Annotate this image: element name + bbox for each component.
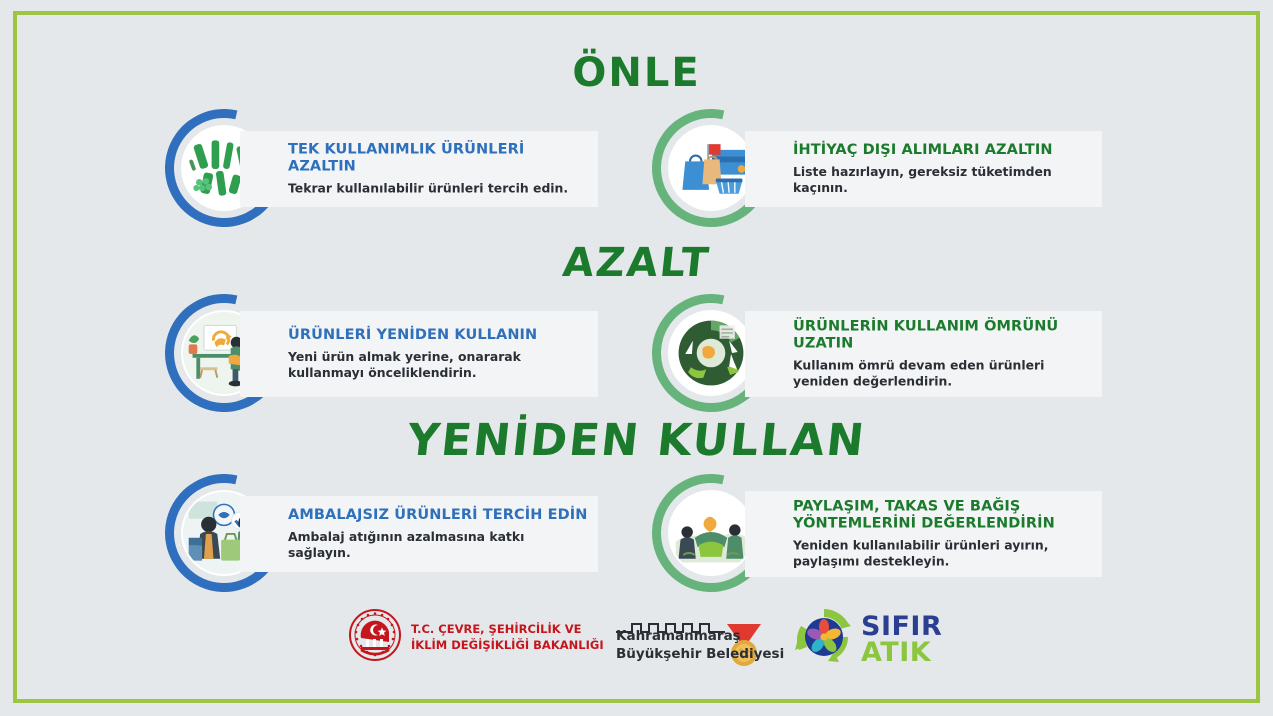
card-tek-kullanimlik[interactable]: TEK KULLANIMLIK ÜRÜNLERİ AZALTIN Tekrar … [240,131,598,207]
card-ihtiyac-disi[interactable]: İHTİYAÇ DIŞI ALIMLARI AZALTIN Liste hazı… [745,131,1102,207]
card-paylasim-takas[interactable]: PAYLAŞIM, TAKAS VE BAĞIŞ YÖNTEMLERİNİ DE… [745,491,1102,577]
card-kullanim-omru[interactable]: ÜRÜNLERİN KULLANIM ÖMRÜNÜ UZATIN Kullanı… [745,311,1102,397]
section-row-azalt: ÜRÜNLERİ YENİDEN KULLANIN Yeni ürün alma… [0,288,1273,418]
card-title: TEK KULLANIMLIK ÜRÜNLERİ AZALTIN [288,141,588,175]
card-title: ÜRÜNLERİN KULLANIM ÖMRÜNÜ UZATIN [793,319,1092,353]
section-row-yeniden-kullan: AMBALAJSIZ ÜRÜNLERİ TERCİH EDİN Ambalaj … [0,468,1273,598]
municipality-label: Kahramanmaraş Büyükşehir Belediyesi [616,628,784,663]
card-description: Yeni ürün almak yerine, onararak kullanm… [288,349,588,381]
zero-waste-line-2: ATIK [861,640,942,666]
card-text: İHTİYAÇ DIŞI ALIMLARI AZALTIN Liste hazı… [793,142,1092,196]
card-title: PAYLAŞIM, TAKAS VE BAĞIŞ YÖNTEMLERİNİ DE… [793,499,1092,533]
card-text: TEK KULLANIMLIK ÜRÜNLERİ AZALTIN Tekrar … [288,141,588,196]
zero-waste-recycle-icon [793,606,855,673]
badge-image [668,310,754,396]
card-ambalajsiz[interactable]: AMBALAJSIZ ÜRÜNLERİ TERCİH EDİN Ambalaj … [240,496,598,572]
municipality-line-1: Kahramanmaraş [616,628,784,646]
ministry-line-1: T.C. ÇEVRE, ŞEHİRCİLİK VE [411,622,604,638]
section-heading-azalt: AZALT [0,240,1273,286]
zero-waste-label: SIFIR ATIK [861,614,942,665]
logo-ministry: T.C. ÇEVRE, ŞEHİRCİLİK VE İKLİM DEĞİŞİKL… [348,608,604,667]
poster-root: ÖNLE [0,0,1273,716]
card-text: ÜRÜNLERİ YENİDEN KULLANIN Yeni ürün alma… [288,327,588,381]
footer-logos: T.C. ÇEVRE, ŞEHİRCİLİK VE İKLİM DEĞİŞİKL… [0,600,1273,690]
section-heading-yeniden-kullan: YENİDEN KULLAN [0,415,1273,466]
card-description: Tekrar kullanılabilir ürünleri tercih ed… [288,181,588,197]
card-title: AMBALAJSIZ ÜRÜNLERİ TERCİH EDİN [288,507,588,524]
ministry-label: T.C. ÇEVRE, ŞEHİRCİLİK VE İKLİM DEĞİŞİKL… [411,622,604,653]
card-description: Yeniden kullanılabilir ürünleri ayırın, … [793,538,1092,570]
card-urunleri-yeniden[interactable]: ÜRÜNLERİ YENİDEN KULLANIN Yeni ürün alma… [240,311,598,397]
turkish-ministry-seal-icon [348,608,402,667]
badge-image [668,490,754,576]
ministry-line-2: İKLİM DEĞİŞİKLİĞİ BAKANLIĞI [411,638,604,654]
municipality-line-2: Büyükşehir Belediyesi [616,646,784,664]
card-text: PAYLAŞIM, TAKAS VE BAĞIŞ YÖNTEMLERİNİ DE… [793,499,1092,570]
card-description: Ambalaj atığının azalmasına katkı sağlay… [288,529,588,561]
card-description: Kullanım ömrü devam eden ürünleri yenide… [793,358,1092,390]
section-heading-onle: ÖNLE [0,50,1273,96]
logo-municipality: Kahramanmaraş Büyükşehir Belediyesi [612,606,772,668]
badge-image [668,125,754,211]
zero-waste-line-1: SIFIR [861,614,942,640]
section-row-onle: TEK KULLANIMLIK ÜRÜNLERİ AZALTIN Tekrar … [0,103,1273,233]
card-title: ÜRÜNLERİ YENİDEN KULLANIN [288,327,588,344]
card-title: İHTİYAÇ DIŞI ALIMLARI AZALTIN [793,142,1092,159]
card-description: Liste hazırlayın, gereksiz tüketimden ka… [793,164,1092,196]
card-text: ÜRÜNLERİN KULLANIM ÖMRÜNÜ UZATIN Kullanı… [793,319,1092,390]
card-text: AMBALAJSIZ ÜRÜNLERİ TERCİH EDİN Ambalaj … [288,507,588,561]
logo-zero-waste: SIFIR ATIK [793,606,942,673]
